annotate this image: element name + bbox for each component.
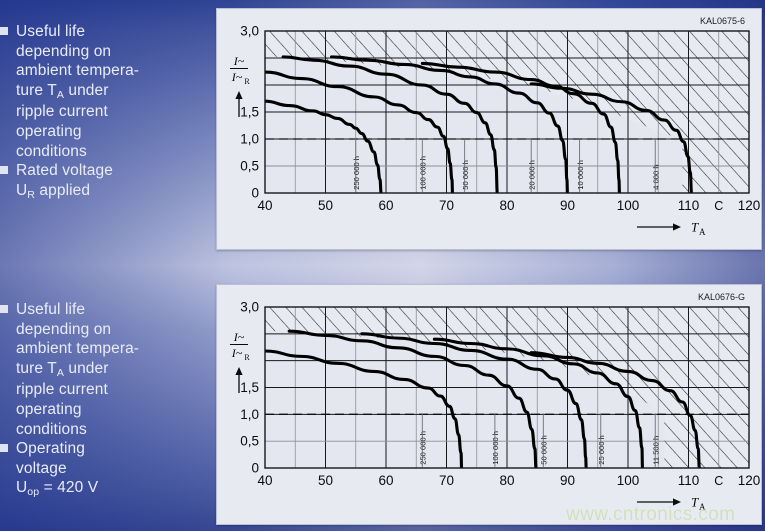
line: Operating [16, 439, 212, 459]
line: ambient tempera- [16, 339, 212, 359]
svg-text:I~: I~ [233, 330, 245, 344]
line: ripple current [16, 102, 212, 122]
line: ture TA under [16, 81, 212, 103]
y-tick-label: 3,0 [240, 24, 259, 39]
bullet-text-top-1: Useful life depending on ambient tempera… [16, 22, 212, 161]
x-tick-label: 50 [318, 198, 333, 213]
subscript: R [27, 189, 35, 201]
x-tick-label: 80 [499, 473, 514, 488]
line: Uop = 420 V [16, 478, 212, 500]
line-part: = 420 V [39, 479, 98, 496]
y-tick-label: 1,0 [240, 132, 259, 147]
bullet-item-useful-life-bottom: Useful life depending on ambient tempera… [0, 300, 212, 439]
x-tick-label: 40 [257, 198, 272, 213]
y-tick-label: 3,0 [240, 300, 259, 315]
curve-label: 25 000 h [597, 435, 606, 465]
line: Rated voltage [16, 161, 212, 181]
line: Useful life [16, 300, 212, 320]
svg-text:I~: I~ [233, 54, 245, 68]
x-tick-label: 90 [560, 473, 575, 488]
x-tick-label: 110 [678, 198, 700, 213]
y-tick-label: 0,5 [240, 159, 259, 174]
x-tick-label: 120 [738, 473, 761, 488]
bullet-square-icon [0, 444, 8, 452]
x-tick-label: 100 [617, 198, 640, 213]
subscript: A [57, 367, 64, 379]
y-tick-label: 0,5 [240, 434, 259, 449]
x-tick-label: 120 [738, 198, 761, 213]
chart-panel-top: 250 000 h100 000 h50 000 h20 000 h10 000… [216, 8, 762, 250]
line: voltage [16, 459, 212, 479]
line-part: applied [35, 182, 90, 199]
x-axis-unit: C [714, 474, 723, 488]
svg-text:R: R [244, 77, 250, 86]
line-part: under [64, 82, 109, 99]
bullet-text-top-2: Rated voltage UR applied [16, 161, 212, 202]
line: ture TA under [16, 359, 212, 381]
bullet-item-rated-voltage: Rated voltage UR applied [0, 161, 212, 202]
bullet-item-operating-voltage: Operating voltage Uop = 420 V [0, 439, 212, 500]
curve-label: 4 000 h [651, 164, 660, 189]
x-tick-label: 80 [499, 198, 514, 213]
line-part: U [16, 182, 27, 199]
curve-label: 250 000 h [419, 431, 428, 465]
chart-bottom-svg: 250 000 h100 000 h50 000 h25 000 h11 500… [217, 285, 761, 524]
x-axis-unit: C [714, 199, 723, 213]
curve-label: 250 000 h [352, 156, 361, 190]
y-tick-label: 1,5 [240, 105, 259, 120]
chart-panel-bottom: 250 000 h100 000 h50 000 h25 000 h11 500… [216, 284, 762, 525]
x-tick-label: 50 [318, 473, 333, 488]
line: Useful life [16, 22, 212, 42]
bullet-square-icon [0, 305, 8, 313]
x-tick-label: 40 [257, 473, 272, 488]
x-tick-label: 90 [560, 198, 575, 213]
bullet-text-bottom-2: Operating voltage Uop = 420 V [16, 439, 212, 500]
svg-text:R: R [244, 353, 250, 362]
line-part: ture T [16, 360, 57, 377]
bullet-list-bottom: Useful life depending on ambient tempera… [0, 300, 212, 500]
line-part: under [64, 360, 109, 377]
x-tick-label: 60 [378, 198, 393, 213]
line-part: U [16, 479, 27, 496]
line: operating [16, 122, 212, 142]
x-tick-label: 110 [678, 473, 700, 488]
bullet-list-top: Useful life depending on ambient tempera… [0, 22, 212, 202]
curve-label: 50 000 h [540, 435, 549, 465]
x-tick-label: 60 [378, 473, 393, 488]
x-tick-label: 70 [439, 473, 454, 488]
line-part: ture T [16, 82, 57, 99]
line: depending on [16, 42, 212, 62]
chart-code-label: KAL0676-G [698, 292, 745, 302]
line: ambient tempera- [16, 61, 212, 81]
svg-text:A: A [699, 227, 706, 237]
line: conditions [16, 142, 212, 162]
line: operating [16, 400, 212, 420]
y-tick-label: 1,0 [240, 407, 259, 422]
subscript: A [57, 89, 64, 101]
svg-text:T: T [691, 220, 699, 235]
chart-top-svg: 250 000 h100 000 h50 000 h20 000 h10 000… [217, 9, 761, 249]
line: ripple current [16, 380, 212, 400]
curve-label: 11 500 h [651, 436, 660, 465]
x-tick-label: 70 [439, 198, 454, 213]
watermark: www.cntronics.com [566, 504, 735, 526]
line: depending on [16, 320, 212, 340]
x-axis-label: TA [637, 220, 706, 238]
bullet-text-bottom-1: Useful life depending on ambient tempera… [16, 300, 212, 439]
curve-label: 20 000 h [527, 160, 536, 190]
x-tick-label: 100 [617, 473, 640, 488]
curve-label: 100 000 h [491, 431, 500, 465]
bullet-square-icon [0, 166, 8, 174]
line: UR applied [16, 181, 212, 203]
line: conditions [16, 420, 212, 440]
svg-text:I~: I~ [231, 70, 243, 84]
subscript: op [27, 486, 39, 498]
chart-code-label: KAL0675-6 [700, 16, 745, 26]
bullet-item-useful-life-top: Useful life depending on ambient tempera… [0, 22, 212, 161]
y-tick-label: 1,5 [240, 380, 259, 395]
svg-text:I~: I~ [231, 346, 243, 360]
curve-label: 10 000 h [576, 160, 585, 190]
curve-label: 50 000 h [461, 160, 470, 190]
bullet-square-icon [0, 27, 8, 35]
curve-label: 100 000 h [419, 156, 428, 190]
